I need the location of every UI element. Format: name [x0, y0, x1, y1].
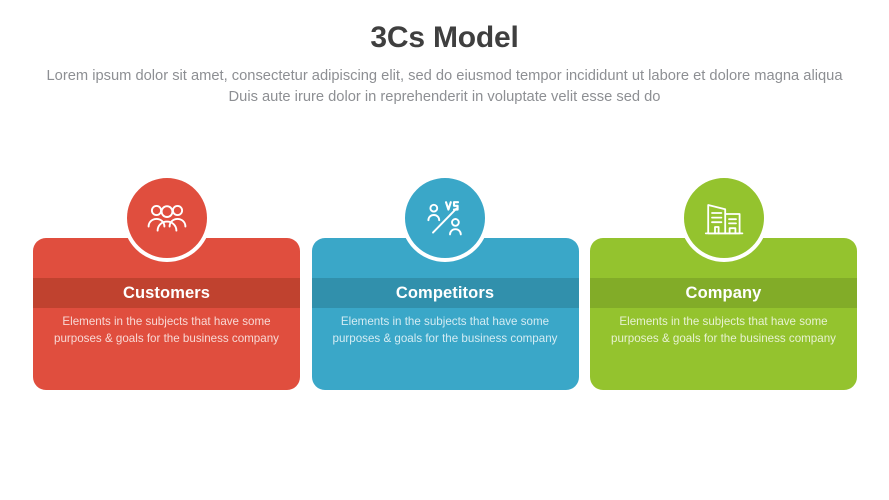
card-competitors-title: Competitors	[312, 278, 579, 308]
people-group-icon	[147, 202, 187, 234]
versus-people-icon	[425, 199, 465, 237]
card-competitors-icon-circle[interactable]	[401, 174, 489, 262]
card-competitors[interactable]: Competitors Elements in the subjects tha…	[312, 238, 579, 390]
card-customers[interactable]: Customers Elements in the subjects that …	[33, 238, 300, 390]
card-customers-icon-circle[interactable]	[123, 174, 211, 262]
card-company-title: Company	[590, 278, 857, 308]
card-company-icon-circle[interactable]	[680, 174, 768, 262]
card-company[interactable]: Company Elements in the subjects that ha…	[590, 238, 857, 390]
page-subtitle: Lorem ipsum dolor sit amet, consectetur …	[40, 57, 850, 108]
page-title: 3Cs Model	[0, 0, 889, 57]
page-header: 3Cs Model Lorem ipsum dolor sit amet, co…	[0, 0, 889, 108]
card-customers-title: Customers	[33, 278, 300, 308]
cards-row: Customers Elements in the subjects that …	[33, 238, 857, 390]
card-competitors-description: Elements in the subjects that have some …	[328, 314, 563, 347]
card-company-description: Elements in the subjects that have some …	[606, 314, 841, 347]
card-customers-description: Elements in the subjects that have some …	[49, 314, 284, 347]
office-building-icon	[704, 200, 744, 236]
